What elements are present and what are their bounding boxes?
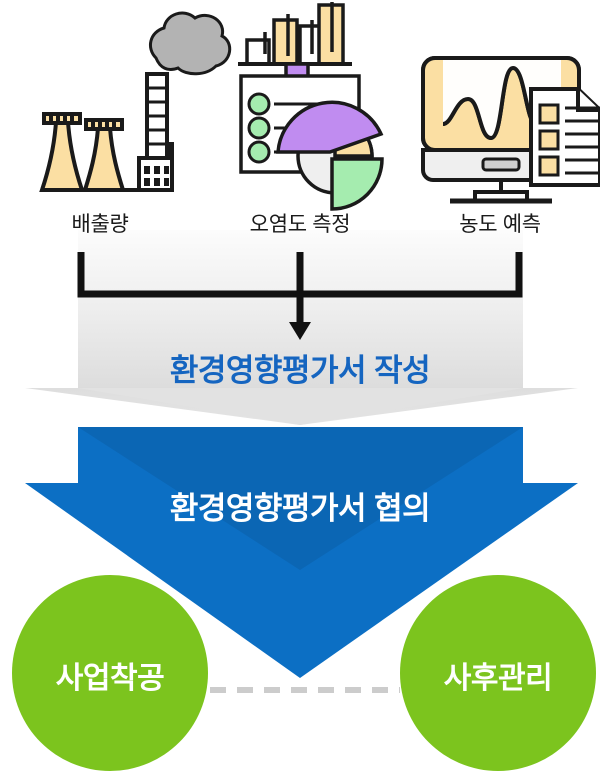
outcome-label-post: 사후관리: [400, 653, 596, 697]
stage-label-report: 환경영향평가서 작성: [0, 345, 600, 390]
source-label-pollution: 오염도 측정: [200, 208, 400, 238]
monitor-waveform-document-icon: [423, 58, 600, 201]
source-label-emission: 배출량: [0, 208, 200, 238]
source-label-forecast: 농도 예측: [400, 208, 600, 238]
environmental-impact-assessment-diagram: 배출량 오염도 측정 농도 예측 환경영향평가서 작성 환경영향평가서 협의 사…: [0, 0, 600, 776]
stage-label-consult: 환경영향평가서 협의: [0, 483, 600, 528]
factory-smokestack-icon: [42, 13, 230, 190]
outcome-label-start: 사업착공: [12, 653, 208, 697]
chart-pie-analysis-icon: [238, 2, 382, 209]
